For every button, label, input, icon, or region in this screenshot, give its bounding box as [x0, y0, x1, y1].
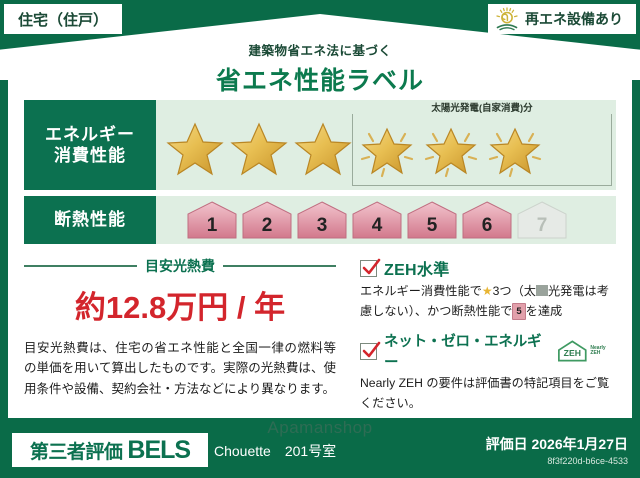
svg-text:ZEH: ZEH [563, 348, 580, 358]
insulation-level-value: 3 [317, 215, 328, 237]
star-icon-solar [484, 118, 546, 180]
zeh-standard-block: ZEH水準 エネルギー消費性能で★3つ（太光発電は考慮しない）、かつ断熱性能で5… [360, 256, 616, 321]
energy-cost-note: 目安光熱費は、住宅の省エネ性能と全国一律の燃料等の単価を用いて算出したものです。… [24, 338, 336, 399]
zeh-house-logo-icon: ZEH Nearly ZEH [556, 339, 616, 363]
zeh-logo-subtext: Nearly ZEH [590, 346, 616, 357]
insulation-level-badge: 2 [241, 200, 293, 240]
insulation-level-value: 6 [482, 215, 493, 237]
renewable-energy-label: 再エネ設備あり [525, 9, 623, 29]
insulation-level-badge: 6 [461, 200, 513, 240]
energy-cost-amount: 約12.8万円 / 年 [24, 282, 336, 327]
star-icon [292, 118, 354, 180]
bels-energy-label: 住宅（住戸） 再エネ設備あり 建築物省エ [0, 0, 640, 478]
label-title-subtitle: 建築物省エネ法に基づく [0, 40, 640, 59]
label-title-main: 省エネ性能ラベル [0, 61, 640, 97]
lower-content: 目安光熱費 約12.8万円 / 年 目安光熱費は、住宅の省エネ性能と全国一律の燃… [24, 256, 616, 422]
energy-cost-column: 目安光熱費 約12.8万円 / 年 目安光熱費は、住宅の省エネ性能と全国一律の燃… [24, 256, 346, 422]
evaluation-id: 8f3f220d-b6ce-4533 [486, 456, 628, 466]
insulation-level-value: 4 [372, 215, 383, 237]
zeh-netzero-title: ネット・ゼロ・エネルギー [384, 330, 549, 372]
insulation-level-value: 7 [537, 215, 548, 237]
energy-performance-label: エネルギー 消費性能 [24, 100, 156, 190]
zeh-desc-stars: 3つ（太 [493, 284, 536, 298]
zeh-column: ZEH水準 エネルギー消費性能で★3つ（太光発電は考慮しない）、かつ断熱性能で5… [346, 256, 616, 422]
energy-performance-row: エネルギー 消費性能 太陽光発電(自家消費)分 [24, 100, 616, 190]
insulation-performance-label-text: 断熱性能 [54, 209, 126, 230]
insulation-performance-body: 1 2 3 [156, 196, 616, 244]
star-rating [156, 118, 546, 180]
solar-bracket-caption: 太陽光発電(自家消費)分 [352, 100, 612, 114]
zeh-standard-title: ZEH水準 [384, 256, 450, 280]
bels-japanese-label: 第三者評価 [30, 437, 123, 464]
insulation-level-badge: 1 [186, 200, 238, 240]
performance-rows: エネルギー 消費性能 太陽光発電(自家消費)分 [24, 100, 616, 250]
bels-certification-plate: 第三者評価 BELS [12, 433, 208, 467]
zeh-standard-head: ZEH水準 [360, 256, 616, 280]
insulation-level-badge-inactive: 7 [516, 200, 568, 240]
energy-cost-heading: 目安光熱費 [24, 256, 336, 276]
insulation-level-value: 5 [427, 215, 438, 237]
dwelling-type-label: 住宅（住戸） [18, 9, 108, 30]
zeh-netzero-block: ネット・ゼロ・エネルギー ZEH Nearly ZEH Nearly ZEH の… [360, 330, 616, 413]
insulation-performance-row: 断熱性能 1 [24, 196, 616, 244]
zeh-netzero-head: ネット・ゼロ・エネルギー ZEH Nearly ZEH [360, 330, 616, 372]
label-title-block: 建築物省エネ法に基づく 省エネ性能ラベル [0, 40, 640, 97]
star-icon [164, 118, 226, 180]
insulation-level-badge: 5 [406, 200, 458, 240]
redacted-mark [536, 285, 548, 296]
sun-renewable-icon [494, 7, 520, 31]
energy-performance-body: 太陽光発電(自家消費)分 [156, 100, 616, 190]
energy-cost-heading-text: 目安光熱費 [145, 256, 215, 276]
star-icon [228, 118, 290, 180]
zeh-desc-part3: を達成 [526, 304, 563, 318]
bels-logo-text: BELS [127, 436, 190, 465]
evaluation-info: 評価日 2026年1月27日 8f3f220d-b6ce-4533 [486, 434, 628, 466]
energy-performance-label-line2: 消費性能 [54, 145, 126, 166]
insulation-level-badge: 3 [296, 200, 348, 240]
insulation-level-badge: 4 [351, 200, 403, 240]
star-icon-solar [356, 118, 418, 180]
insulation-performance-label: 断熱性能 [24, 196, 156, 244]
check-icon [360, 343, 377, 360]
label-footer: 第三者評価 BELS Chouette 201号室 評価日 2026年1月27日… [0, 426, 640, 478]
star-icon-solar [420, 118, 482, 180]
zeh-desc-part1: エネルギー消費性能で [360, 284, 482, 298]
zeh-netzero-description: Nearly ZEH の要件は評価書の特記項目をご覧ください。 [360, 374, 616, 413]
insulation-level-scale: 1 2 3 [156, 200, 568, 240]
dwelling-type-tag: 住宅（住戸） [4, 4, 122, 34]
heading-rule-left [24, 265, 137, 267]
insulation-level-value: 2 [262, 215, 273, 237]
inline-star-icon: ★ [482, 284, 493, 298]
energy-performance-label-line1: エネルギー [45, 124, 135, 145]
zeh-standard-description: エネルギー消費性能で★3つ（太光発電は考慮しない）、かつ断熱性能で5を達成 [360, 282, 616, 321]
inline-insulation-badge: 5 [512, 303, 525, 320]
room-name: Chouette 201号室 [214, 441, 336, 461]
renewable-energy-tag: 再エネ設備あり [488, 4, 636, 34]
insulation-level-value: 1 [207, 215, 218, 237]
evaluation-date: 評価日 2026年1月27日 [486, 434, 628, 454]
heading-rule-right [223, 265, 336, 267]
check-icon [360, 260, 377, 277]
